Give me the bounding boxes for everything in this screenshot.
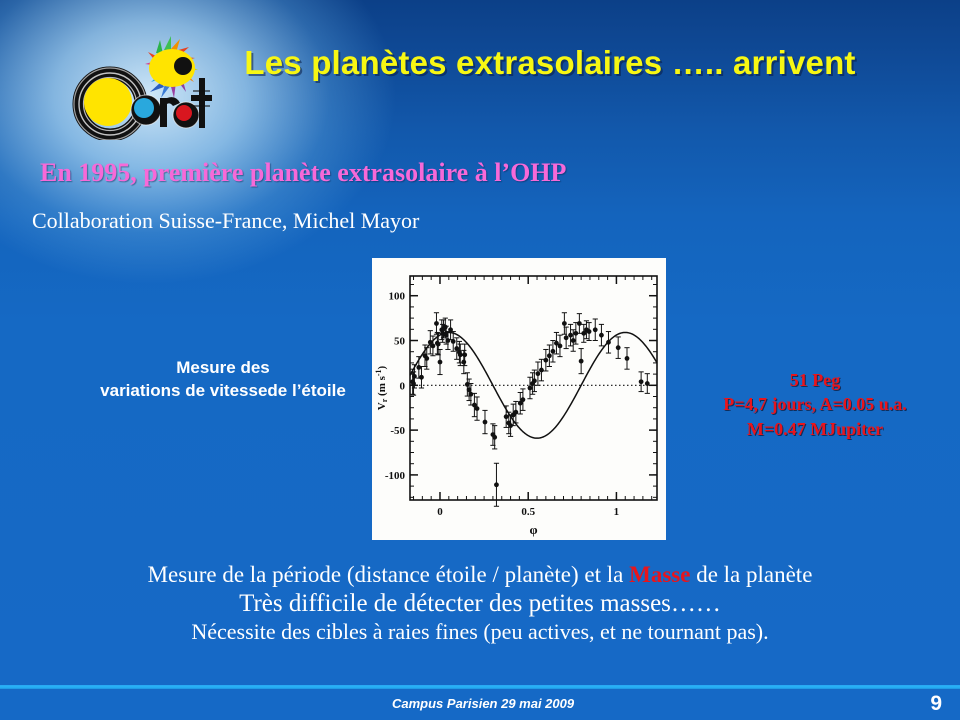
corot-logo-graphic [52, 16, 212, 140]
radial-velocity-chart: 100500-50-10000.51φVr (m s-1) [372, 258, 666, 540]
conclusion-line-1-part-c: de la planète [690, 562, 812, 587]
measurement-note-line-2: variations de vitessede l’étoile [88, 380, 358, 403]
slide-title: Les planètes extrasolaires ….. arrivent [200, 44, 900, 82]
chart-data-point [579, 359, 584, 364]
chart-data-point [513, 410, 518, 415]
chart-data-point [462, 352, 467, 357]
corot-logo [52, 16, 212, 140]
chart-x-tick-label: 1 [614, 506, 620, 518]
chart-data-point [431, 343, 436, 348]
chart-y-tick-label: -50 [390, 425, 405, 437]
logo-sun-pupil [174, 57, 192, 75]
chart-data-point [461, 360, 466, 365]
chart-x-tick-label: 0 [437, 506, 443, 518]
chart-data-point [492, 435, 497, 440]
chart-data-point [616, 345, 621, 350]
chart-data-point [568, 333, 573, 338]
chart-data-point [416, 365, 421, 370]
chart-data-point [438, 360, 443, 365]
chart-data-point [483, 420, 488, 425]
presentation-slide: Les planètes extrasolaires ….. arrivent … [0, 0, 960, 720]
chart-data-point [577, 321, 582, 326]
chart-data-point [419, 375, 424, 380]
chart-data-point [593, 327, 598, 332]
chart-data-point [458, 352, 463, 357]
measurement-note-line-1: Mesure des [88, 357, 358, 380]
planet-mass: M=0.47 MJupiter [690, 417, 940, 441]
chart-data-point [532, 378, 537, 383]
chart-data-point [528, 386, 533, 391]
collaboration-subheading: Collaboration Suisse-France, Michel Mayo… [32, 208, 419, 234]
chart-data-point [539, 368, 544, 373]
chart-data-point [521, 397, 526, 402]
chart-data-point [443, 325, 448, 330]
chart-data-point [606, 340, 611, 345]
chart-x-axis-label: φ [529, 522, 537, 537]
footer-event-label: Campus Parisien 29 mai 2009 [392, 696, 574, 711]
planet-period-distance: P=4,7 jours, A=0.05 u.a. [690, 392, 940, 416]
conclusion-line-3: Nécessite des cibles à raies fines (peu … [0, 619, 960, 646]
chart-data-point [446, 338, 451, 343]
chart-data-point [451, 339, 456, 344]
conclusion-text-block: Mesure de la période (distance étoile / … [0, 562, 960, 646]
chart-data-point [587, 329, 592, 334]
slide-number: 9 [930, 692, 942, 716]
chart-data-point [645, 381, 650, 386]
chart-data-point [571, 338, 576, 343]
chart-data-point [551, 349, 556, 354]
chart-data-point [562, 321, 567, 326]
chart-y-tick-label: 0 [400, 380, 406, 392]
chart-data-point [475, 406, 480, 411]
chart-data-point [424, 356, 429, 361]
chart-axis-frame [410, 276, 657, 500]
chart-data-point [536, 371, 541, 376]
chart-data-point [558, 343, 563, 348]
conclusion-mass-keyword: Masse [629, 562, 690, 587]
chart-data-point [436, 342, 441, 347]
chart-data-point [434, 321, 439, 326]
chart-data-point [625, 356, 630, 361]
conclusion-line-2: Très difficile de détecter des petites m… [0, 588, 960, 619]
chart-data-point [494, 482, 499, 487]
chart-data-point [543, 358, 548, 363]
chart-y-tick-label: 50 [394, 336, 406, 348]
chart-data-point [564, 335, 569, 340]
planet-name: 51 Peg [690, 368, 940, 392]
chart-data-points [410, 313, 650, 507]
conclusion-line-1: Mesure de la période (distance étoile / … [0, 562, 960, 588]
chart-y-tick-label: 100 [389, 291, 406, 303]
conclusion-line-1-part-a: Mesure de la période (distance étoile / … [148, 562, 630, 587]
section-heading: En 1995, première planète extrasolaire à… [40, 158, 566, 188]
chart-data-point [639, 379, 644, 384]
chart-data-point [547, 353, 552, 358]
chart-data-point [599, 333, 604, 338]
chart-data-point [504, 414, 509, 419]
measurement-note: Mesure des variations de vitessede l’éto… [88, 357, 358, 403]
logo-letter-o [131, 95, 161, 125]
chart-x-tick-label: 0.5 [521, 506, 535, 518]
chart-data-point [468, 392, 473, 397]
chart-data-point [412, 374, 417, 379]
chart-canvas: 100500-50-10000.51φVr (m s-1) [372, 258, 666, 540]
planet-parameters-note: 51 Peg P=4,7 jours, A=0.05 u.a. M=0.47 M… [690, 368, 940, 441]
chart-y-tick-label: -100 [385, 470, 406, 482]
svg-text:Vr (m s-1): Vr (m s-1) [374, 365, 389, 410]
chart-data-point [411, 381, 416, 386]
chart-y-axis-label: Vr (m s-1) [374, 365, 389, 410]
